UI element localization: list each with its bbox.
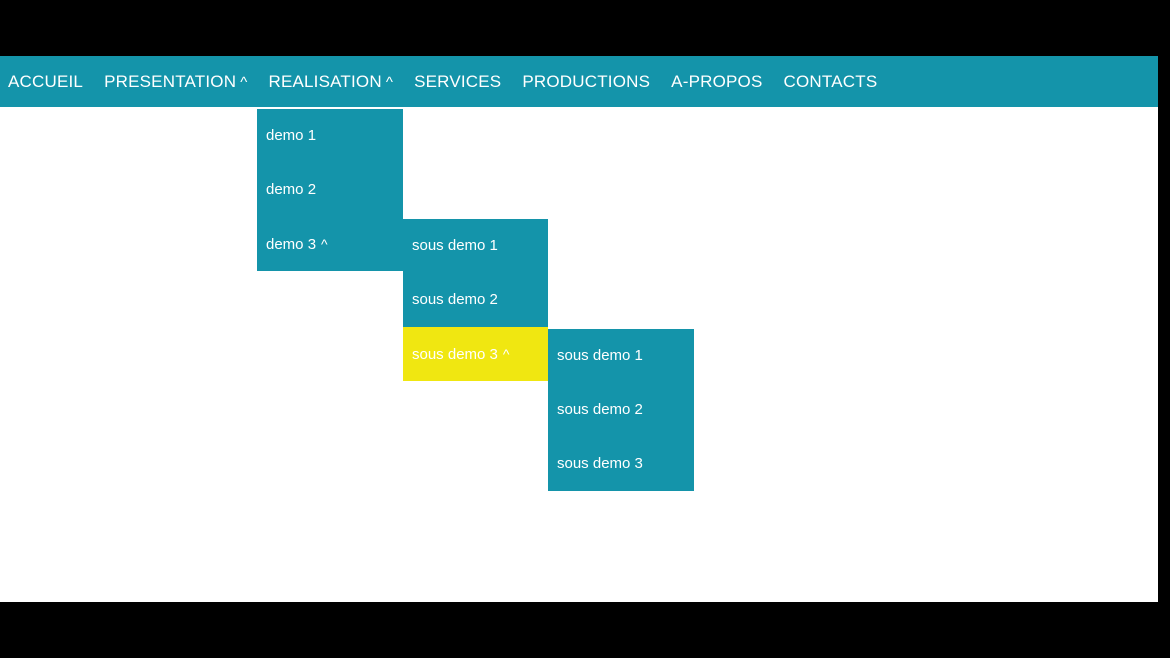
- nav-item-a-propos[interactable]: A-PROPOS: [671, 56, 762, 107]
- dropdown-menu-level-2[interactable]: sous demo 1sous demo 2sous demo 3^: [403, 219, 548, 381]
- menu-l3-item-sous-demo-2[interactable]: sous demo 2: [548, 383, 694, 437]
- menu-l2-item-sous-demo-1[interactable]: sous demo 1: [403, 219, 548, 273]
- nav-item-label: A-PROPOS: [671, 72, 762, 91]
- nav-item-accueil[interactable]: ACCUEIL: [8, 56, 83, 107]
- nav-item-label: SERVICES: [414, 72, 501, 91]
- main-navigation-bar: ACCUEILPRESENTATION^REALISATION^SERVICES…: [0, 56, 1158, 107]
- nav-item-productions[interactable]: PRODUCTIONS: [522, 56, 650, 107]
- menu-l2-item-sous-demo-3[interactable]: sous demo 3^: [403, 327, 548, 381]
- menu-item-label: sous demo 3: [557, 455, 643, 472]
- nav-item-presentation[interactable]: PRESENTATION^: [104, 56, 247, 108]
- nav-item-label: REALISATION: [268, 72, 381, 91]
- nav-item-services[interactable]: SERVICES: [414, 56, 501, 107]
- menu-item-label: demo 3: [266, 236, 316, 253]
- nav-item-label: PRESENTATION: [104, 72, 236, 91]
- right-gutter: [1158, 56, 1170, 602]
- nav-item-realisation[interactable]: REALISATION^: [268, 56, 393, 108]
- nav-item-contacts[interactable]: CONTACTS: [784, 56, 878, 107]
- menu-item-label: sous demo 1: [557, 347, 643, 364]
- menu-l3-item-sous-demo-1[interactable]: sous demo 1: [548, 329, 694, 383]
- dropdown-menu-level-1[interactable]: demo 1demo 2demo 3^: [257, 109, 403, 271]
- nav-item-label: ACCUEIL: [8, 72, 83, 91]
- menu-item-label: sous demo 1: [412, 237, 498, 254]
- letterbox-bottom: [0, 602, 1170, 658]
- web-page-viewport: ACCUEILPRESENTATION^REALISATION^SERVICES…: [0, 56, 1158, 602]
- menu-l1-item-demo-1[interactable]: demo 1: [257, 109, 403, 163]
- screen: ACCUEILPRESENTATION^REALISATION^SERVICES…: [0, 0, 1170, 658]
- nav-item-label: CONTACTS: [784, 72, 878, 91]
- menu-item-label: sous demo 2: [412, 291, 498, 308]
- dropdown-menu-level-3[interactable]: sous demo 1sous demo 2sous demo 3: [548, 329, 694, 491]
- chevron-up-icon: ^: [321, 217, 328, 271]
- chevron-up-icon: ^: [503, 327, 510, 381]
- menu-item-label: demo 1: [266, 127, 316, 144]
- menu-l3-item-sous-demo-3[interactable]: sous demo 3: [548, 437, 694, 491]
- menu-item-label: sous demo 3: [412, 346, 498, 363]
- menu-l1-item-demo-3[interactable]: demo 3^: [257, 217, 403, 271]
- letterbox-top: [0, 0, 1170, 56]
- chevron-up-icon: ^: [240, 57, 247, 108]
- menu-item-label: demo 2: [266, 181, 316, 198]
- chevron-up-icon: ^: [386, 57, 393, 108]
- menu-item-label: sous demo 2: [557, 401, 643, 418]
- menu-l1-item-demo-2[interactable]: demo 2: [257, 163, 403, 217]
- nav-item-label: PRODUCTIONS: [522, 72, 650, 91]
- menu-l2-item-sous-demo-2[interactable]: sous demo 2: [403, 273, 548, 327]
